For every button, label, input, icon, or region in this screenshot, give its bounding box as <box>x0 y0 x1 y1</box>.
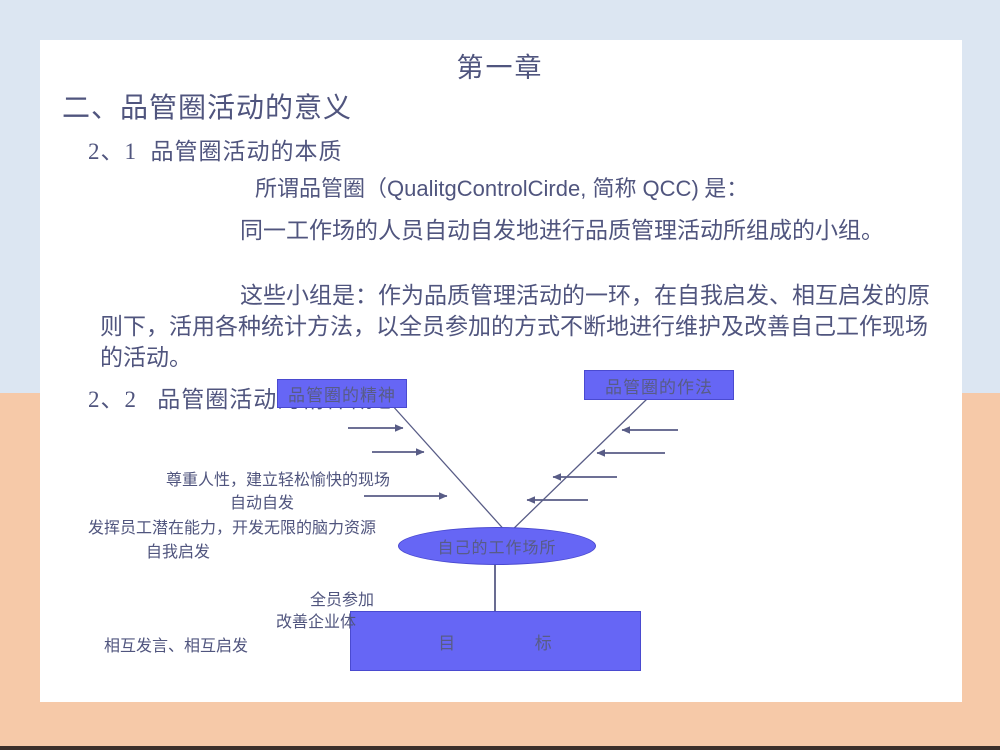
diagram-label-respect-humanity: 尊重人性，建立轻松愉快的现场 <box>166 466 390 490</box>
box-qcc-spirit[interactable]: 品管圈的精神 <box>277 379 407 408</box>
diagram-label-self-motivation: 自动自发 <box>230 489 294 513</box>
slide-canvas: 第一章 二、品管圈活动的意义 2、1 品管圈活动的本质 所谓品管圈（Qualit… <box>0 0 1000 750</box>
diagram-label-improve-enterprise: 改善企业体 <box>276 608 356 632</box>
goal-char-left: 目 <box>438 629 456 654</box>
goal-inner: 目 标 <box>351 629 640 654</box>
diagonal-right <box>508 398 648 534</box>
diagram-label-mutual-discussion: 相互发言、相互启发 <box>104 632 248 656</box>
diagram-label-self-enlightenment: 自我启发 <box>146 538 210 562</box>
box-qcc-method[interactable]: 品管圈的作法 <box>584 370 734 400</box>
goal-char-right: 标 <box>535 629 553 654</box>
diagram-label-full-participation: 全员参加 <box>310 586 374 610</box>
qcc-concept-diagram: 品管圈的精神 品管圈的作法 自己的工作场所 目 标 尊重人性，建立轻松愉快的现场… <box>0 0 1000 750</box>
box-goal[interactable]: 目 标 <box>350 611 641 671</box>
ellipse-own-workplace[interactable]: 自己的工作场所 <box>398 527 596 565</box>
diagram-label-employee-potential: 发挥员工潜在能力，开发无限的脑力资源 <box>88 514 376 538</box>
diagonal-left <box>391 404 508 534</box>
